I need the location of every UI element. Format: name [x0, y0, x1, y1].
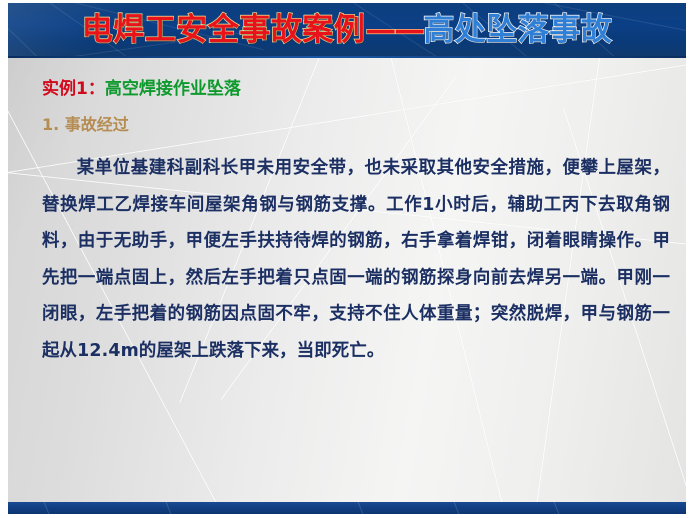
presentation-slide: 电焊工安全事故案例——高处坠落事故 实例1：高空焊接作业坠落 1. 事故经过 某…	[0, 0, 694, 518]
example-heading-title: 高空焊接作业坠落	[105, 79, 241, 99]
footer-streak	[39, 502, 55, 514]
slide-content-area: 实例1：高空焊接作业坠落 1. 事故经过 某单位基建科副科长甲未用安全带，也未采…	[8, 58, 686, 502]
section-heading: 1. 事故经过	[42, 114, 672, 136]
slide-body: 实例1：高空焊接作业坠落 1. 事故经过 某单位基建科副科长甲未用安全带，也未采…	[42, 78, 672, 369]
footer-streak	[549, 502, 565, 514]
slide-title-dash: ——	[365, 12, 423, 48]
slide-title-subject: 高处坠落事故	[423, 12, 612, 48]
example-heading: 实例1：高空焊接作业坠落	[42, 78, 672, 100]
slide-title: 电焊工安全事故案例——高处坠落事故	[0, 4, 694, 49]
footer-streak	[161, 502, 177, 514]
slide-footer-bar	[8, 502, 686, 514]
slide-title-main: 电焊工安全事故案例	[82, 12, 366, 48]
footer-streak	[353, 502, 369, 514]
accident-narrative-paragraph: 某单位基建科副科长甲未用安全带，也未采取其他安全措施，便攀上屋架，替换焊工乙焊接…	[42, 150, 670, 369]
example-heading-label: 实例1：	[42, 79, 105, 99]
footer-streak	[449, 502, 465, 514]
